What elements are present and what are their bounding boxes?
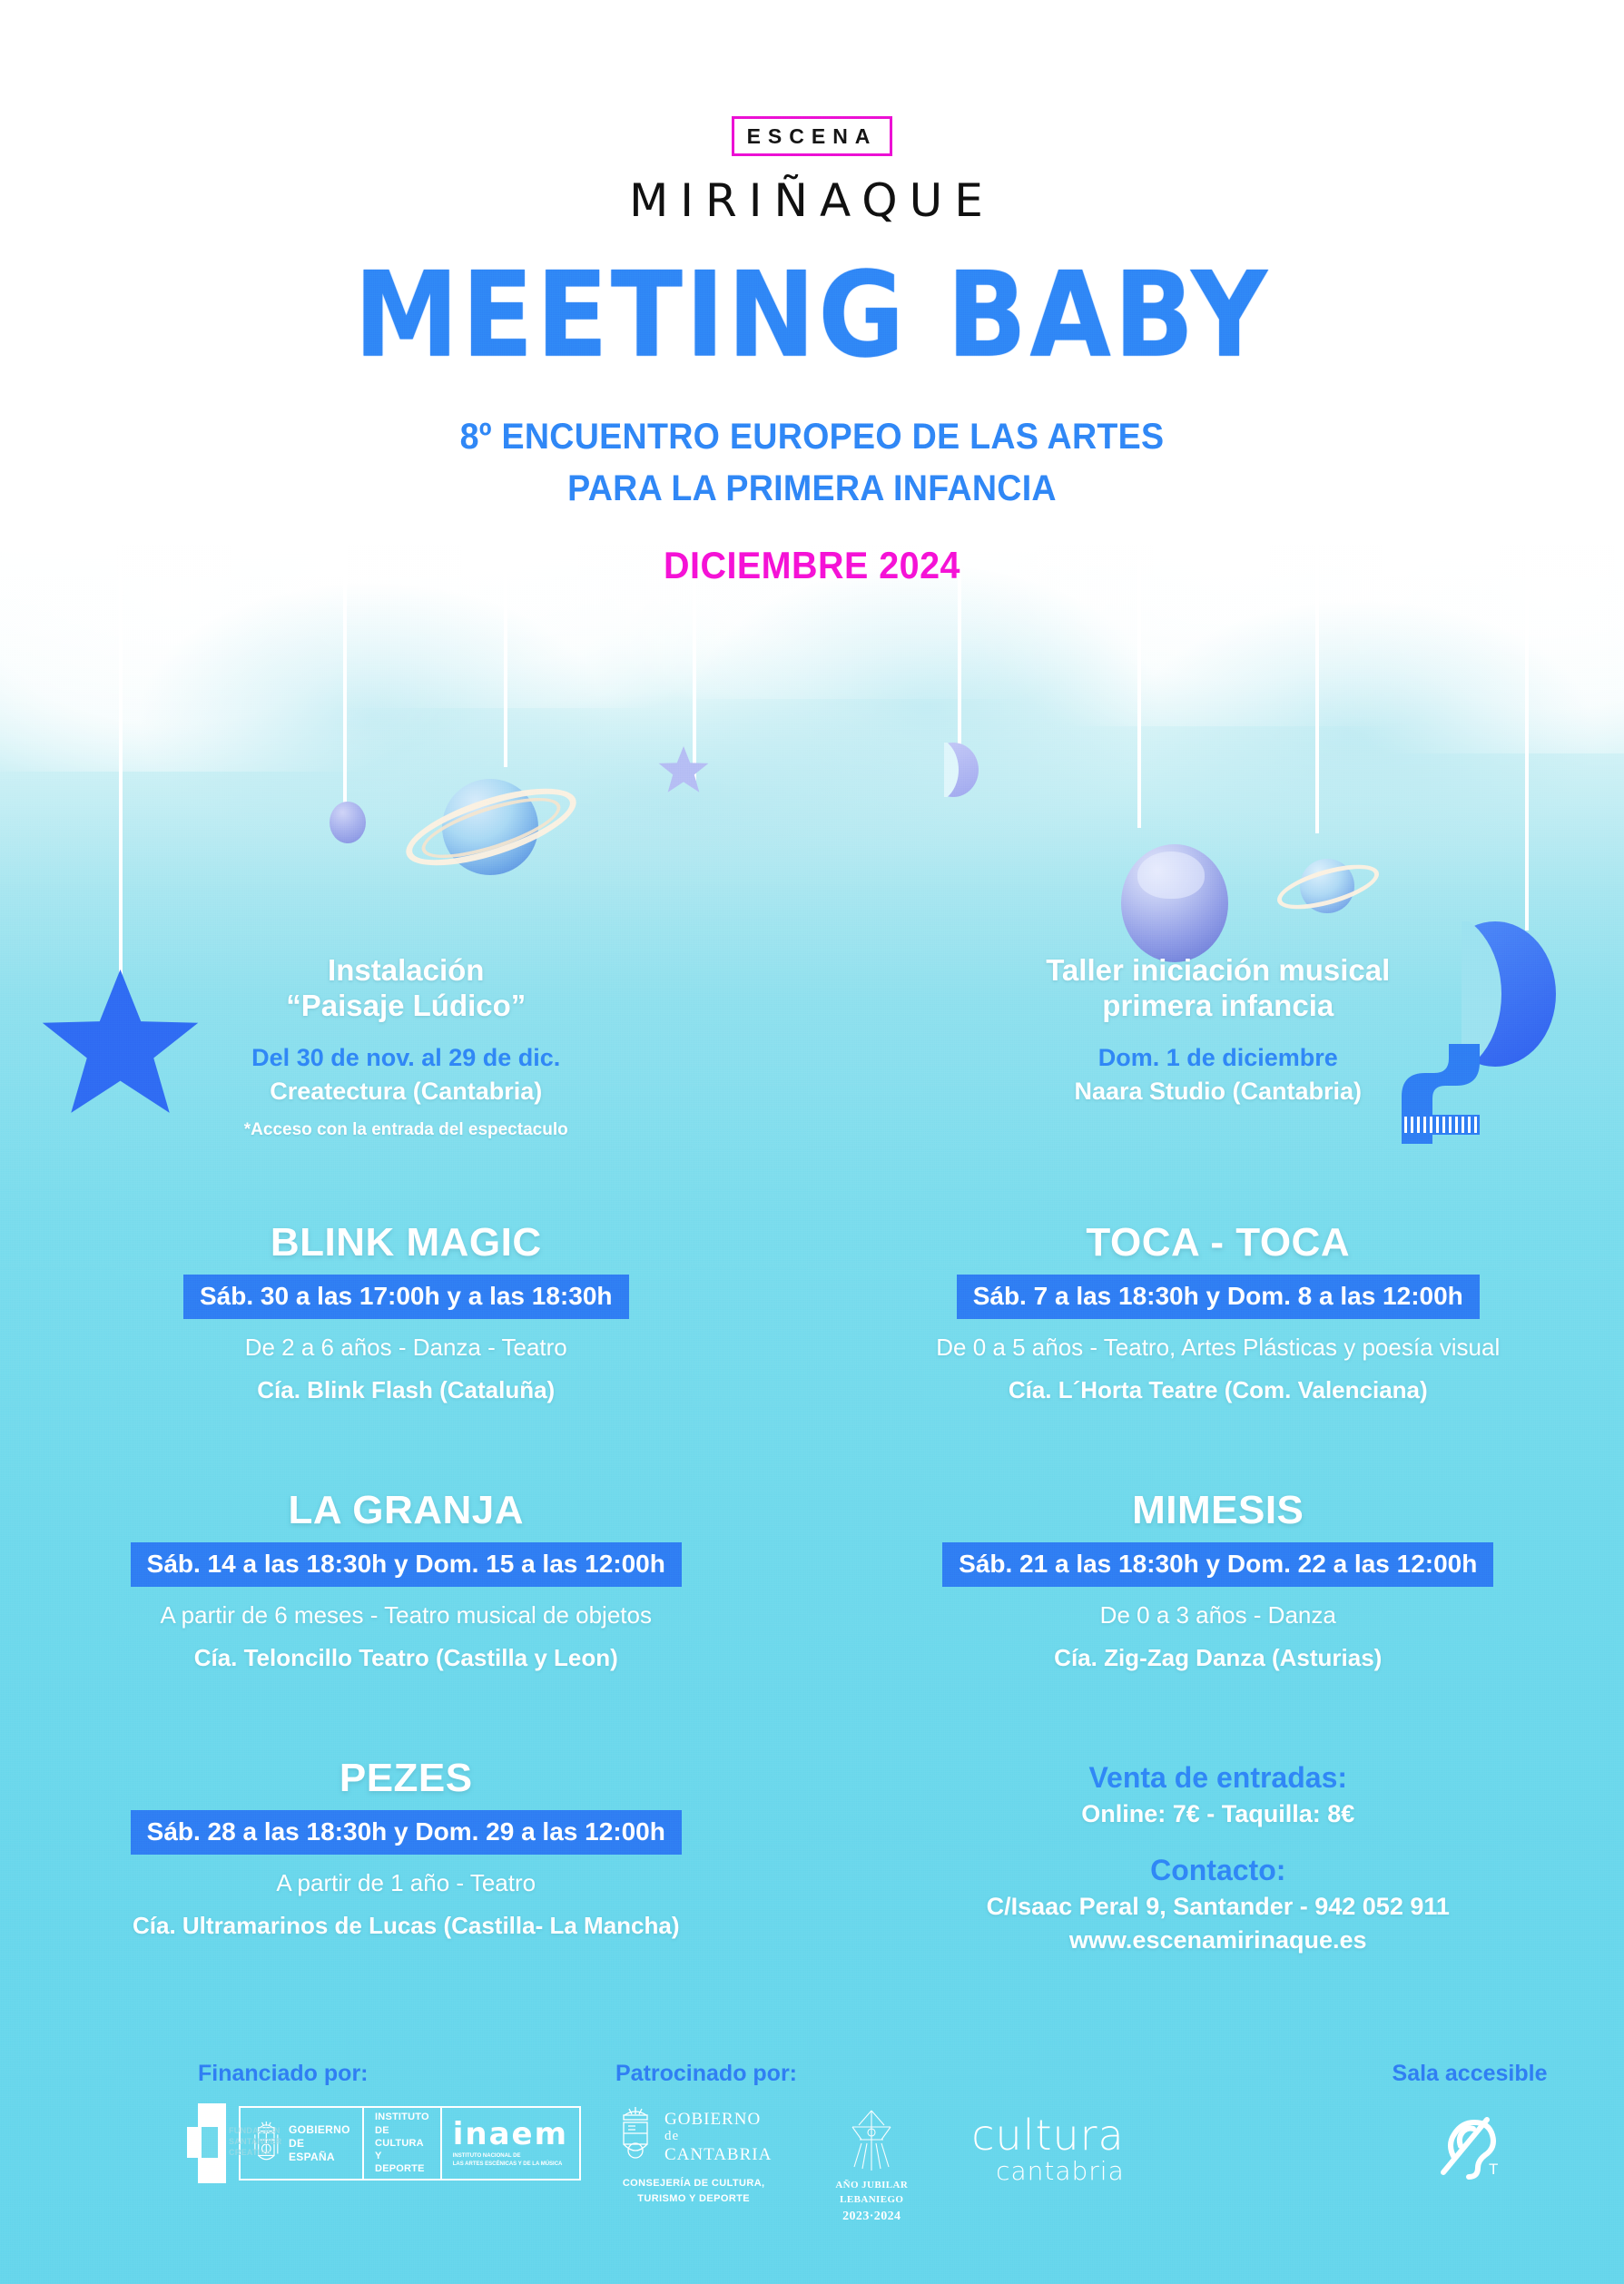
poster-header: ESCENA MIRIÑAQUE MEETING BABY 8º ENCUENT… [0,0,1624,587]
crescent-moon-ornament [944,743,986,797]
feature-place: Naara Studio (Cantabria) [834,1078,1603,1106]
poster-canvas: ESCENA MIRIÑAQUE MEETING BABY 8º ENCUENT… [0,0,1624,2284]
show-card[interactable]: BLINK MAGIC Sáb. 30 a las 17:00h y a las… [0,1220,812,1404]
show-meta: De 0 a 3 años - Danza [834,1601,1603,1629]
tickets-prices: Online: 7€ - Taquilla: 8€ [834,1800,1603,1828]
show-meta: A partir de 6 meses - Teatro musical de … [22,1601,791,1629]
cantabria-coat-of-arms-icon [615,2103,655,2171]
show-time-badge: Sáb. 14 a las 18:30h y Dom. 15 a las 12:… [131,1542,682,1587]
tickets-heading: Venta de entradas: [834,1761,1603,1795]
poster-footer: Financiado por: FUNDACION SANTANDER CREA… [0,2061,1624,2226]
feature-title-line-2: primera infancia [834,989,1603,1024]
programme-content: Instalación “Paisaje Lúdico” Del 30 de n… [0,953,1624,1954]
cultura-wordmark: cultura [971,2116,1125,2156]
instituto-line-2: DE CULTURA [375,2124,429,2151]
cantabria-line-1: GOBIERNO [664,2110,772,2130]
shows-row: LA GRANJA Sáb. 14 a las 18:30h y Dom. 15… [0,1488,1624,1672]
feature-note: *Acceso con la entrada del espectaculo [22,1120,791,1140]
feature-date: Dom. 1 de diciembre [834,1044,1603,1072]
escena-logo-box: ESCENA [732,116,893,156]
show-time-badge: Sáb. 30 a las 17:00h y a las 18:30h [183,1275,629,1319]
featured-row: Instalación “Paisaje Lúdico” Del 30 de n… [0,953,1624,1140]
feature-place: Createctura (Cantabria) [22,1078,791,1106]
hearing-loop-letter: T [1489,2161,1498,2178]
logo-cultura-cantabria: cultura cantabria [971,2116,1125,2186]
show-card[interactable]: TOCA - TOCA Sáb. 7 a las 18:30h y Dom. 8… [812,1220,1624,1404]
subtitle-line-2: PARA LA PRIMERA INFANCIA [49,468,1576,509]
contact-heading: Contacto: [834,1854,1603,1887]
contact-address: C/Isaac Peral 9, Santander - 942 052 911 [834,1893,1603,1921]
fsc-line-1: FUNDACION [229,2125,282,2136]
inaem-tagline-2: LAS ARTES ESCÉNICAS Y DE LA MÚSICA [453,2161,568,2168]
show-time-badge: Sáb. 7 a las 18:30h y Dom. 8 a las 12:00… [957,1275,1480,1319]
event-month: DICIEMBRE 2024 [49,544,1576,587]
gobierno-espana-line-1: GOBIERNO [289,2123,351,2137]
show-company: Cía. L´Horta Teatre (Com. Valenciana) [834,1376,1603,1404]
show-title: MIMESIS [834,1488,1603,1533]
lebaniego-line-1: AÑO JUBILAR [835,2179,908,2193]
planet-sphere-highlight [1137,852,1205,899]
lebaniego-line-3: 2023·2024 [835,2208,908,2226]
funded-by-label: Financiado por: [198,2061,581,2087]
show-card[interactable]: LA GRANJA Sáb. 14 a las 18:30h y Dom. 15… [0,1488,812,1672]
show-card[interactable]: PEZES Sáb. 28 a las 18:30h y Dom. 29 a l… [0,1756,812,1954]
show-time-badge: Sáb. 28 a las 18:30h y Dom. 29 a las 12:… [131,1810,682,1855]
feature-title-line-1: Instalación [22,953,791,989]
show-company: Cía. Zig-Zag Danza (Asturias) [834,1644,1603,1672]
fsc-line-3: CREATIVA [229,2147,282,2158]
logo-ano-jubilar-lebaniego: AÑO JUBILAR LEBANIEGO 2023·2024 [835,2107,908,2226]
shows-row: PEZES Sáb. 28 a las 18:30h y Dom. 29 a l… [0,1756,1624,1954]
show-title: BLINK MAGIC [22,1220,791,1265]
mirinaque-wordmark: MIRIÑAQUE [0,174,1624,227]
show-title: LA GRANJA [22,1488,791,1533]
sponsored-by-label: Patrocinado por: [615,2061,1352,2087]
star-ornament [658,746,709,795]
hearing-loop-icon: T [1431,2103,1509,2183]
cantabria-line-3: CANTABRIA [664,2145,772,2165]
lebaniego-line-2: LEBANIEGO [835,2193,908,2208]
sponsored-by-section: Patrocinado por: [581,2061,1352,2226]
accessible-label: Sala accesible [1352,2061,1588,2087]
funded-by-section: Financiado por: FUNDACION SANTANDER CREA… [0,2061,581,2183]
logo-fundacion-santander-creativa: FUNDACION SANTANDER CREATIVA [198,2103,226,2183]
logo-inaem: inaem INSTITUTO NACIONAL DE LAS ARTES ES… [440,2106,581,2181]
gobierno-espana-line-2: DE ESPAÑA [289,2137,351,2164]
subtitle-line-1: 8º ENCUENTRO EUROPEO DE LAS ARTES [49,417,1576,458]
accessible-room-section: Sala accesible T [1352,2061,1624,2183]
show-meta: De 2 a 6 años - Danza - Teatro [22,1334,791,1362]
mist-blob [690,563,1162,853]
show-meta: De 0 a 5 años - Teatro, Artes Plásticas … [834,1334,1603,1362]
show-company: Cía. Blink Flash (Cataluña) [22,1376,791,1404]
show-title: TOCA - TOCA [834,1220,1603,1265]
show-card[interactable]: MIMESIS Sáb. 21 a las 18:30h y Dom. 22 a… [812,1488,1624,1672]
inaem-tagline-1: INSTITUTO NACIONAL DE [453,2152,568,2160]
show-time-badge: Sáb. 21 a las 18:30h y Dom. 22 a las 12:… [942,1542,1493,1587]
logo-instituto-cultura-deporte: INSTITUTO DE CULTURA Y DEPORTE [362,2106,440,2181]
fsc-line-2: SANTANDER [229,2136,282,2147]
contact-website[interactable]: www.escenamirinaque.es [834,1926,1603,1954]
tickets-contact-block: Venta de entradas: Online: 7€ - Taquilla… [812,1756,1624,1954]
jubilee-cross-icon [842,2107,901,2174]
escena-logo-text: ESCENA [747,124,878,148]
cantabria-wordmark: cantabria [971,2156,1125,2186]
shows-row: BLINK MAGIC Sáb. 30 a las 17:00h y a las… [0,1220,1624,1404]
cantabria-sub-2: TURISMO Y DEPORTE [615,2191,772,2207]
instituto-line-3: Y DEPORTE [375,2150,429,2176]
show-title: PEZES [22,1756,791,1801]
cantabria-sub-1: CONSEJERÍA DE CULTURA, [615,2176,772,2191]
planet-sphere-ornament [330,802,366,843]
logo-gobierno-de-cantabria: GOBIERNO de CANTABRIA CONSEJERÍA DE CULT… [615,2103,772,2206]
inaem-wordmark: inaem [453,2119,568,2150]
show-company: Cía. Ultramarinos de Lucas (Castilla- La… [22,1912,791,1940]
feature-title-line-2: “Paisaje Lúdico” [22,989,791,1024]
feature-title-line-1: Taller iniciación musical [834,953,1603,989]
show-company: Cía. Teloncillo Teatro (Castilla y Leon) [22,1644,791,1672]
instituto-line-1: INSTITUTO [375,2111,429,2123]
feature-date: Del 30 de nov. al 29 de dic. [22,1044,791,1072]
feature-installation: Instalación “Paisaje Lúdico” Del 30 de n… [0,953,812,1140]
feature-workshop: Taller iniciación musical primera infanc… [812,953,1624,1140]
cantabria-line-2: de [664,2129,772,2144]
show-meta: A partir de 1 año - Teatro [22,1869,791,1897]
page-title: MEETING BABY [0,247,1624,384]
